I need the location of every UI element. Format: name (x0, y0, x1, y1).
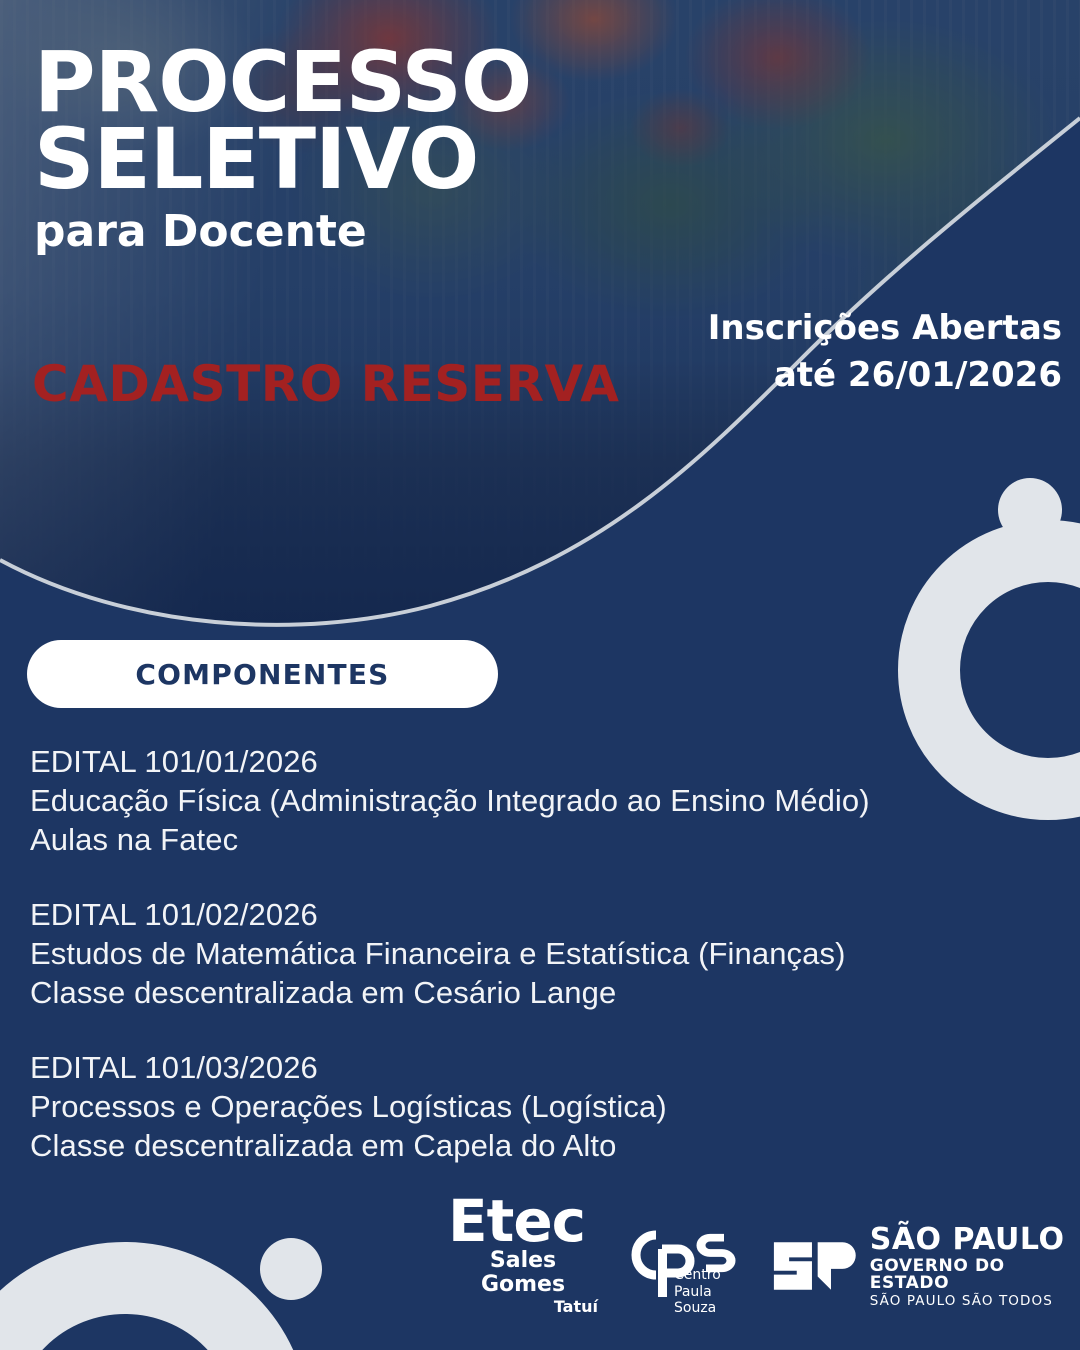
edital-local: Classe descentralizada em Capela do Alto (30, 1126, 1060, 1165)
cps-line-2: Paula Souza (674, 1284, 748, 1317)
title-line-2: SELETIVO (34, 121, 674, 198)
cps-logo: Centro Paula Souza (618, 1227, 748, 1310)
editais-list: EDITAL 101/01/2026 Educação Física (Admi… (30, 742, 1060, 1201)
poster-root: PROCESSO SELETIVO para Docente CADASTRO … (0, 0, 1080, 1350)
etec-wordmark: Etec (448, 1196, 598, 1247)
sp-monogram-icon (772, 1237, 856, 1295)
edital-componente: Processos e Operações Logísticas (Logíst… (30, 1087, 1060, 1126)
edital-item: EDITAL 101/01/2026 Educação Física (Admi… (30, 742, 1060, 859)
edital-numero: EDITAL 101/02/2026 (30, 895, 1060, 934)
footer-logos: Etec Sales Gomes Tatuí Centro Paula Souz… (0, 1222, 1080, 1332)
page-title: PROCESSO SELETIVO para Docente (34, 44, 674, 257)
edital-numero: EDITAL 101/03/2026 (30, 1048, 1060, 1087)
componentes-badge-label: COMPONENTES (135, 658, 389, 691)
inscriptions-line-1: Inscrições Abertas (542, 305, 1062, 352)
etec-city-name: Tatuí (448, 1298, 598, 1316)
inscriptions-block: Inscrições Abertas até 26/01/2026 (542, 305, 1062, 399)
edital-componente: Educação Física (Administração Integrado… (30, 781, 1060, 820)
edital-local: Classe descentralizada em Cesário Lange (30, 973, 1060, 1012)
edital-item: EDITAL 101/02/2026 Estudos de Matemática… (30, 895, 1060, 1012)
etec-logo: Etec Sales Gomes Tatuí (448, 1196, 598, 1316)
edital-local: Aulas na Fatec (30, 820, 1060, 859)
title-subtitle: para Docente (34, 207, 674, 258)
cps-line-1: Centro (674, 1267, 748, 1284)
sp-line-2: GOVERNO DO ESTADO (870, 1258, 1080, 1292)
edital-componente: Estudos de Matemática Financeira e Estat… (30, 934, 1060, 973)
sao-paulo-gov-logo: SÃO PAULO GOVERNO DO ESTADO SÃO PAULO SÃ… (772, 1225, 1080, 1309)
etec-unit-name: Sales Gomes (448, 1249, 598, 1297)
edital-numero: EDITAL 101/01/2026 (30, 742, 1060, 781)
edital-item: EDITAL 101/03/2026 Processos e Operações… (30, 1048, 1060, 1165)
cadastro-reserva-highlight: CADASTRO RESERVA (32, 355, 619, 413)
sp-line-1: SÃO PAULO (870, 1225, 1080, 1255)
cps-name-block: Centro Paula Souza (674, 1267, 748, 1317)
inscriptions-line-2: até 26/01/2026 (542, 352, 1062, 399)
sp-line-3: SÃO PAULO SÃO TODOS (870, 1295, 1080, 1309)
componentes-badge: COMPONENTES (27, 640, 498, 708)
sp-text-block: SÃO PAULO GOVERNO DO ESTADO SÃO PAULO SÃ… (870, 1225, 1080, 1309)
